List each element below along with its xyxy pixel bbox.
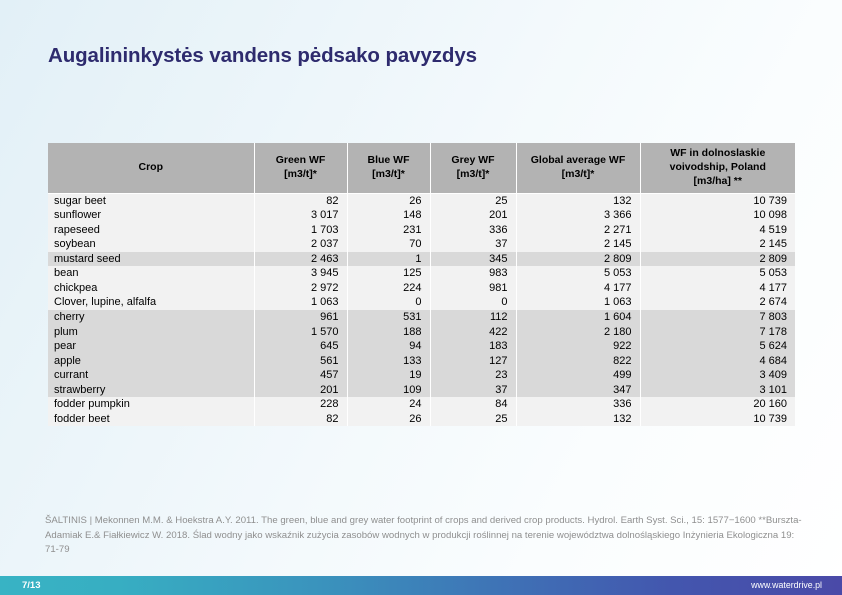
green-wf-value: 2 463 (254, 252, 347, 267)
crop-name: fodder beet (48, 412, 254, 427)
crop-name: plum (48, 325, 254, 340)
table-row: sunflower3 0171482013 36610 098 (48, 208, 795, 223)
grey-wf-value: 23 (430, 368, 516, 383)
poland-wf-value: 2 145 (640, 237, 795, 252)
column-header-crop-label: Crop (139, 161, 164, 173)
table-row: currant45719234993 409 (48, 368, 795, 383)
site-url-link[interactable]: www.waterdrive.pl (751, 576, 822, 595)
green-wf-value: 201 (254, 383, 347, 398)
grey-wf-value: 981 (430, 281, 516, 296)
crop-name: cherry (48, 310, 254, 325)
crop-name: soybean (48, 237, 254, 252)
blue-wf-value: 94 (347, 339, 430, 354)
grey-wf-value: 0 (430, 295, 516, 310)
table-header: Crop Green WF [m3/t]* Blue WF [m3/t]* Gr… (48, 143, 795, 193)
table-row: chickpea2 9722249814 1774 177 (48, 281, 795, 296)
poland-wf-value: 10 098 (640, 208, 795, 223)
crop-name: mustard seed (48, 252, 254, 267)
global-average-wf-value: 499 (516, 368, 640, 383)
green-wf-value: 1 703 (254, 223, 347, 238)
blue-wf-value: 133 (347, 354, 430, 369)
crop-name: apple (48, 354, 254, 369)
column-header-poland-wf-unit: [m3/ha] ** (694, 175, 742, 187)
blue-wf-value: 26 (347, 193, 430, 208)
grey-wf-value: 25 (430, 412, 516, 427)
global-average-wf-value: 922 (516, 339, 640, 354)
global-average-wf-value: 5 053 (516, 266, 640, 281)
blue-wf-value: 188 (347, 325, 430, 340)
crop-name: Clover, lupine, alfalfa (48, 295, 254, 310)
table-header-row: Crop Green WF [m3/t]* Blue WF [m3/t]* Gr… (48, 143, 795, 193)
column-header-global-average-wf: Global average WF [m3/t]* (516, 143, 640, 193)
page-title: Augalininkystės vandens pėdsako pavyzdys (48, 44, 477, 68)
table-row: fodder beet82262513210 739 (48, 412, 795, 427)
crop-name: fodder pumpkin (48, 397, 254, 412)
table-row: rapeseed1 7032313362 2714 519 (48, 223, 795, 238)
green-wf-value: 2 972 (254, 281, 347, 296)
blue-wf-value: 24 (347, 397, 430, 412)
poland-wf-value: 10 739 (640, 412, 795, 427)
column-header-blue-wf-label: Blue WF (368, 154, 410, 166)
crop-name: sunflower (48, 208, 254, 223)
source-note: ŠALTINIS | Mekonnen M.M. & Hoekstra A.Y.… (45, 514, 810, 558)
column-header-poland-wf: WF in dolnoslaskie voivodship, Poland [m… (640, 143, 795, 193)
grey-wf-value: 37 (430, 237, 516, 252)
global-average-wf-value: 4 177 (516, 281, 640, 296)
global-average-wf-value: 132 (516, 412, 640, 427)
poland-wf-value: 3 409 (640, 368, 795, 383)
blue-wf-value: 531 (347, 310, 430, 325)
poland-wf-value: 3 101 (640, 383, 795, 398)
green-wf-value: 1 063 (254, 295, 347, 310)
grey-wf-value: 127 (430, 354, 516, 369)
green-wf-value: 228 (254, 397, 347, 412)
bottom-bar: 7/13 www.waterdrive.pl (0, 576, 842, 595)
crop-name: chickpea (48, 281, 254, 296)
green-wf-value: 2 037 (254, 237, 347, 252)
blue-wf-value: 0 (347, 295, 430, 310)
column-header-blue-wf: Blue WF [m3/t]* (347, 143, 430, 193)
slide: Augalininkystės vandens pėdsako pavyzdys… (0, 0, 842, 595)
column-header-grey-wf-unit: [m3/t]* (457, 168, 490, 180)
blue-wf-value: 231 (347, 223, 430, 238)
table-body: sugar beet82262513210 739sunflower3 0171… (48, 193, 795, 426)
page-number: 7/13 (22, 576, 41, 595)
grey-wf-value: 336 (430, 223, 516, 238)
grey-wf-value: 345 (430, 252, 516, 267)
table-row: mustard seed2 46313452 8092 809 (48, 252, 795, 267)
crop-name: bean (48, 266, 254, 281)
column-header-blue-wf-unit: [m3/t]* (372, 168, 405, 180)
grey-wf-value: 25 (430, 193, 516, 208)
column-header-global-average-wf-label: Global average WF (531, 154, 626, 166)
poland-wf-value: 5 053 (640, 266, 795, 281)
crop-name: sugar beet (48, 193, 254, 208)
global-average-wf-value: 347 (516, 383, 640, 398)
green-wf-value: 645 (254, 339, 347, 354)
poland-wf-value: 7 803 (640, 310, 795, 325)
green-wf-value: 3 945 (254, 266, 347, 281)
blue-wf-value: 70 (347, 237, 430, 252)
poland-wf-value: 2 674 (640, 295, 795, 310)
global-average-wf-value: 3 366 (516, 208, 640, 223)
global-average-wf-value: 822 (516, 354, 640, 369)
table-row: fodder pumpkin228248433620 160 (48, 397, 795, 412)
global-average-wf-value: 2 271 (516, 223, 640, 238)
green-wf-value: 457 (254, 368, 347, 383)
grey-wf-value: 37 (430, 383, 516, 398)
blue-wf-value: 148 (347, 208, 430, 223)
column-header-green-wf: Green WF [m3/t]* (254, 143, 347, 193)
table-row: pear645941839225 624 (48, 339, 795, 354)
poland-wf-value: 4 684 (640, 354, 795, 369)
poland-wf-value: 4 519 (640, 223, 795, 238)
green-wf-value: 82 (254, 193, 347, 208)
grey-wf-value: 183 (430, 339, 516, 354)
poland-wf-value: 10 739 (640, 193, 795, 208)
grey-wf-value: 112 (430, 310, 516, 325)
water-footprint-table: Crop Green WF [m3/t]* Blue WF [m3/t]* Gr… (48, 143, 795, 426)
global-average-wf-value: 336 (516, 397, 640, 412)
global-average-wf-value: 2 180 (516, 325, 640, 340)
table-row: Clover, lupine, alfalfa1 063001 0632 674 (48, 295, 795, 310)
grey-wf-value: 84 (430, 397, 516, 412)
water-footprint-table-container: Crop Green WF [m3/t]* Blue WF [m3/t]* Gr… (48, 143, 795, 426)
column-header-poland-wf-label: WF in dolnoslaskie voivodship, Poland (670, 147, 766, 173)
green-wf-value: 82 (254, 412, 347, 427)
table-row: apple5611331278224 684 (48, 354, 795, 369)
global-average-wf-value: 1 604 (516, 310, 640, 325)
blue-wf-value: 19 (347, 368, 430, 383)
table-row: soybean2 03770372 1452 145 (48, 237, 795, 252)
green-wf-value: 1 570 (254, 325, 347, 340)
blue-wf-value: 125 (347, 266, 430, 281)
blue-wf-value: 224 (347, 281, 430, 296)
blue-wf-value: 109 (347, 383, 430, 398)
poland-wf-value: 7 178 (640, 325, 795, 340)
poland-wf-value: 20 160 (640, 397, 795, 412)
crop-name: strawberry (48, 383, 254, 398)
column-header-grey-wf-label: Grey WF (451, 154, 494, 166)
grey-wf-value: 422 (430, 325, 516, 340)
table-row: plum1 5701884222 1807 178 (48, 325, 795, 340)
poland-wf-value: 2 809 (640, 252, 795, 267)
green-wf-value: 561 (254, 354, 347, 369)
global-average-wf-value: 2 145 (516, 237, 640, 252)
table-row: sugar beet82262513210 739 (48, 193, 795, 208)
crop-name: currant (48, 368, 254, 383)
global-average-wf-value: 132 (516, 193, 640, 208)
crop-name: pear (48, 339, 254, 354)
table-row: bean3 9451259835 0535 053 (48, 266, 795, 281)
green-wf-value: 961 (254, 310, 347, 325)
blue-wf-value: 1 (347, 252, 430, 267)
global-average-wf-value: 2 809 (516, 252, 640, 267)
grey-wf-value: 983 (430, 266, 516, 281)
column-header-crop: Crop (48, 143, 254, 193)
crop-name: rapeseed (48, 223, 254, 238)
column-header-global-average-wf-unit: [m3/t]* (562, 168, 595, 180)
green-wf-value: 3 017 (254, 208, 347, 223)
table-row: cherry9615311121 6047 803 (48, 310, 795, 325)
table-row: strawberry201109373473 101 (48, 383, 795, 398)
poland-wf-value: 5 624 (640, 339, 795, 354)
column-header-green-wf-label: Green WF (276, 154, 326, 166)
grey-wf-value: 201 (430, 208, 516, 223)
global-average-wf-value: 1 063 (516, 295, 640, 310)
column-header-green-wf-unit: [m3/t]* (284, 168, 317, 180)
column-header-grey-wf: Grey WF [m3/t]* (430, 143, 516, 193)
poland-wf-value: 4 177 (640, 281, 795, 296)
blue-wf-value: 26 (347, 412, 430, 427)
